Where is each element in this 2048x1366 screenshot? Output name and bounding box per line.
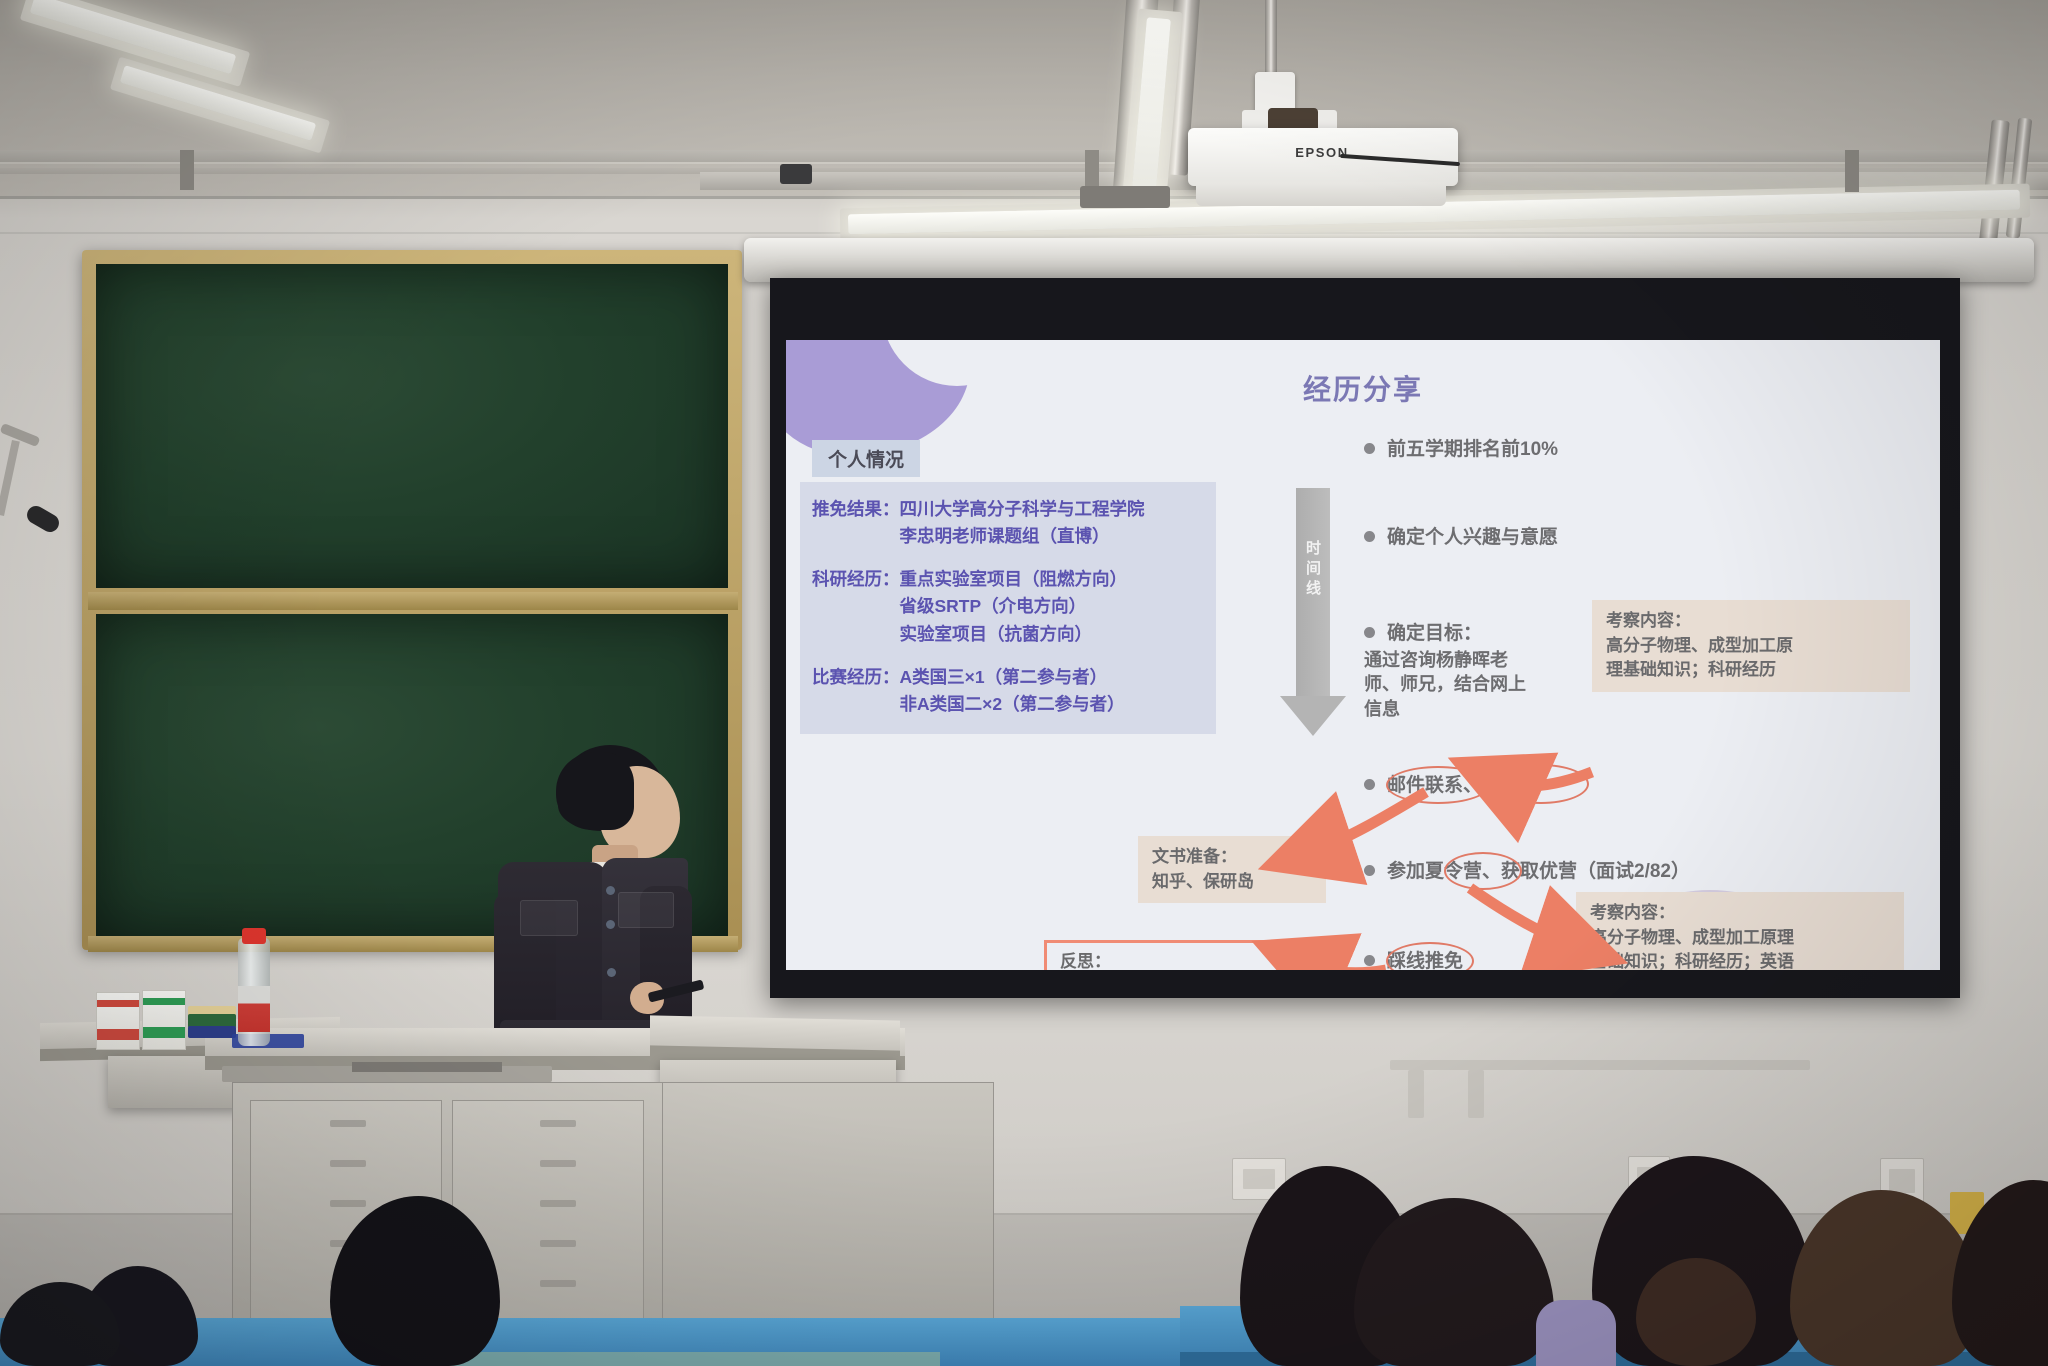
audience-head	[0, 1282, 120, 1366]
callout-top-line-2: 高分子物理、成型加工原	[1606, 634, 1896, 659]
audience-hair-bun	[1636, 1258, 1756, 1366]
ceiling	[0, 0, 2048, 196]
highlight-ellipse-email	[1386, 766, 1490, 804]
audience-head	[1354, 1198, 1554, 1366]
panel-value-bisai-1: A类国三×1（第二参与者）	[900, 664, 1125, 691]
wall-conduit	[1390, 1060, 1810, 1070]
slide-title: 经历分享	[786, 368, 1940, 408]
audience-shoulder	[1536, 1300, 1616, 1366]
panel-value-bisai-2: 非A类国二×2（第二参与者）	[900, 691, 1125, 718]
panel-label-bisai: 比赛经历：	[812, 664, 900, 718]
conduit-drop-2	[1468, 1070, 1484, 1118]
presenter-pocket-left	[520, 900, 578, 936]
chalk-box-red	[96, 992, 140, 1050]
callout-bottom-line-2: 高分子物理、成型加工原理	[1590, 926, 1890, 951]
panel-row-bisai: 比赛经历： A类国三×1（第二参与者） 非A类国二×2（第二参与者）	[812, 664, 1204, 718]
callout-top-line-1: 考察内容：	[1606, 609, 1896, 634]
bullet-interest: 确定个人兴趣与意愿	[1364, 522, 1558, 549]
bullet-dot-icon	[1364, 531, 1375, 542]
goal-detail-line-2: 师、师兄，结合网上	[1364, 672, 1526, 696]
bullet-dot-icon	[1364, 779, 1375, 790]
audience-head	[1952, 1180, 2048, 1366]
projector-bottom	[1196, 182, 1446, 206]
chalk-box-green	[142, 990, 186, 1050]
highlight-ellipse-preinterview	[1493, 764, 1589, 804]
panel-value-keyan-2: 省级SRTP（介电方向）	[900, 593, 1128, 620]
arrow-email-to-docprep	[1310, 792, 1426, 852]
presenter-button-2	[606, 920, 615, 929]
goal-detail-line-1: 通过咨询杨静晖老	[1364, 648, 1526, 672]
eraser-blue	[188, 1026, 236, 1038]
callout-exam-content-top: 考察内容： 高分子物理、成型加工原 理基础知识；科研经历	[1592, 600, 1910, 692]
callout-reflection: 反思： 过于自信、提前准备不充分	[1044, 940, 1324, 970]
classroom-photo: EPSON 经历分享 个人情况 推免结果： 四川大学高分子科学与工程学院 李忠明…	[0, 0, 2048, 1366]
bullet-rank: 前五学期排名前10%	[1364, 434, 1558, 461]
panel-row-keyan: 科研经历： 重点实验室项目（阻燃方向） 省级SRTP（介电方向） 实验室项目（抗…	[812, 566, 1204, 647]
cabinet-vent	[330, 1160, 366, 1167]
bullet-text-interest: 确定个人兴趣与意愿	[1387, 522, 1558, 549]
hanger-plate	[1080, 186, 1170, 208]
bullet-text-summer-camp: 参加夏令营、获取优营（面试2/82）	[1387, 856, 1690, 883]
chalk-box-band-2	[143, 1027, 185, 1038]
chalk-box-band	[97, 1000, 139, 1007]
highlight-ellipse-summer-camp	[1444, 852, 1522, 890]
bullet-dot-icon	[1364, 955, 1375, 966]
hanger-bracket-3	[1845, 150, 1859, 192]
blackboard-divider	[88, 592, 738, 610]
presenter-hair-back	[556, 752, 634, 830]
timeline-arrow-head	[1280, 696, 1346, 736]
audience-hair	[330, 1196, 500, 1366]
audience-hair	[1354, 1198, 1554, 1366]
cabinet-vent	[330, 1120, 366, 1127]
arrow-camp-to-callout-bottom	[1470, 888, 1576, 946]
bullet-summer-camp: 参加夏令营、获取优营（面试2/82）	[1364, 856, 1690, 883]
cabinet-vent	[540, 1280, 576, 1287]
goal-detail-line-3: 信息	[1364, 697, 1526, 721]
panel-value-tuimian-2: 李忠明老师课题组（直博）	[900, 523, 1145, 550]
bottle-cap	[242, 928, 266, 944]
bullet-text-goal: 确定目标：	[1387, 618, 1482, 645]
callout-document-prep: 文书准备： 知乎、保研岛	[1138, 836, 1326, 903]
chalk-box-band-2	[97, 1029, 139, 1040]
bullet-goal: 确定目标：	[1364, 618, 1482, 645]
presenter-button-1	[606, 886, 615, 895]
water-bottle	[238, 938, 270, 1046]
presenter-pocket-right	[618, 892, 674, 928]
timeline-arrow: 时间线	[1280, 488, 1346, 738]
bullet-text-rank: 前五学期排名前10%	[1387, 434, 1558, 461]
panel-row-tuimian: 推免结果： 四川大学高分子科学与工程学院 李忠明老师课题组（直博）	[812, 496, 1204, 550]
panel-value-tuimian-1: 四川大学高分子科学与工程学院	[900, 496, 1145, 523]
chalk-box-band	[143, 998, 185, 1005]
conduit-drop-1	[1408, 1070, 1424, 1118]
doc-prep-line-2: 知乎、保研岛	[1152, 870, 1312, 895]
ceiling-speaker	[780, 164, 812, 184]
cabinet-vent	[540, 1240, 576, 1247]
goal-detail-note: 通过咨询杨静晖老 师、师兄，结合网上 信息	[1364, 648, 1526, 721]
presenter-button-3	[607, 968, 616, 977]
audience-hair	[0, 1282, 120, 1366]
panel-label-tuimian: 推免结果：	[812, 496, 900, 550]
bullet-dot-icon	[1364, 443, 1375, 454]
timeline-label: 时间线	[1302, 540, 1323, 600]
audience-head	[330, 1196, 500, 1366]
projection-screen-case	[744, 238, 2034, 282]
callout-bottom-line-3: 基础知识；科研经历；英语	[1590, 950, 1890, 970]
section-tag-personal-info: 个人情况	[812, 440, 920, 477]
hanger-bracket-1	[180, 150, 194, 190]
panel-label-keyan: 科研经历：	[812, 566, 900, 647]
ceiling-rail	[0, 150, 2048, 162]
bullet-dot-icon	[1364, 865, 1375, 876]
panel-value-keyan-1: 重点实验室项目（阻燃方向）	[900, 566, 1128, 593]
reflection-line-1: 反思：	[1060, 950, 1308, 970]
audience-hair	[1952, 1180, 2048, 1366]
callout-top-line-3: 理基础知识；科研经历	[1606, 658, 1896, 683]
audience-hair-bun-shape	[1636, 1258, 1756, 1366]
personal-info-panel: 推免结果： 四川大学高分子科学与工程学院 李忠明老师课题组（直博） 科研经历： …	[800, 482, 1216, 734]
cabinet-vent	[540, 1200, 576, 1207]
blackboard-panel-upper	[96, 264, 728, 588]
cabinet-vent	[540, 1160, 576, 1167]
panel-value-keyan-3: 实验室项目（抗菌方向）	[900, 621, 1128, 648]
tray-handle-left	[352, 1062, 502, 1072]
slide-canvas: 经历分享 个人情况 推免结果： 四川大学高分子科学与工程学院 李忠明老师课题组（…	[786, 340, 1940, 970]
bottle-label	[238, 986, 270, 1032]
callout-exam-content-bottom: 考察内容： 高分子物理、成型加工原理 基础知识；科研经历；英语	[1576, 892, 1904, 970]
cabinet-vent	[540, 1120, 576, 1127]
audience-shoulder-shape	[1536, 1300, 1616, 1366]
callout-bottom-line-1: 考察内容：	[1590, 901, 1890, 926]
bullet-dot-icon	[1364, 627, 1375, 638]
doc-prep-line-1: 文书准备：	[1152, 845, 1312, 870]
